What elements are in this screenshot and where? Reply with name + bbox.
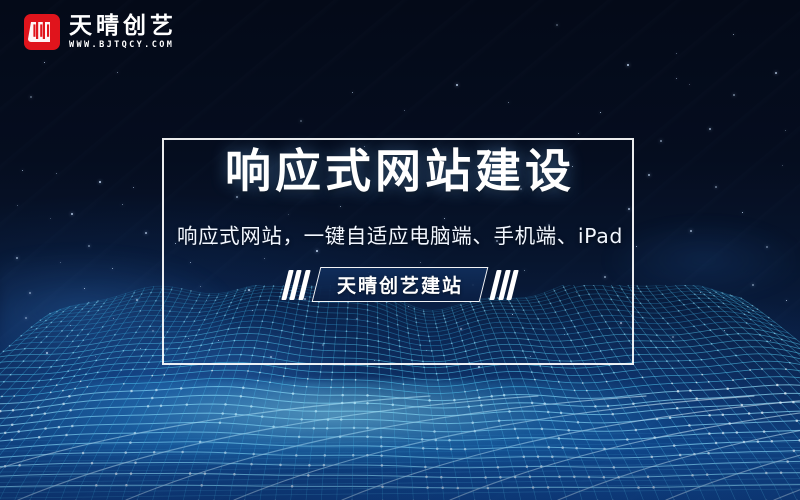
logo-website-url: WWW.BJTQCY.COM	[69, 41, 177, 50]
tianqing-logo-mark-icon	[24, 14, 60, 50]
hero-banner: 天晴创艺 WWW.BJTQCY.COM 响应式网站建设 响应式网站，一键自适应电…	[0, 0, 800, 500]
hero-badge-row: 天晴创艺建站	[285, 267, 515, 303]
brand-badge-label: 天晴创艺建站	[337, 271, 463, 298]
hero-subtitle: 响应式网站，一键自适应电脑端、手机端、iPad	[177, 219, 623, 249]
page-title: 响应式网站建设	[225, 146, 575, 197]
brand-badge[interactable]: 天晴创艺建站	[312, 267, 489, 302]
logo-company-name: 天晴创艺	[69, 15, 177, 38]
logo-text-block: 天晴创艺 WWW.BJTQCY.COM	[69, 15, 177, 50]
slash-group-right-icon	[493, 270, 515, 300]
site-logo[interactable]: 天晴创艺 WWW.BJTQCY.COM	[24, 14, 177, 50]
slash-group-left-icon	[285, 270, 307, 300]
hero-content: 响应式网站建设 响应式网站，一键自适应电脑端、手机端、iPad 天晴创艺建站	[0, 146, 800, 303]
